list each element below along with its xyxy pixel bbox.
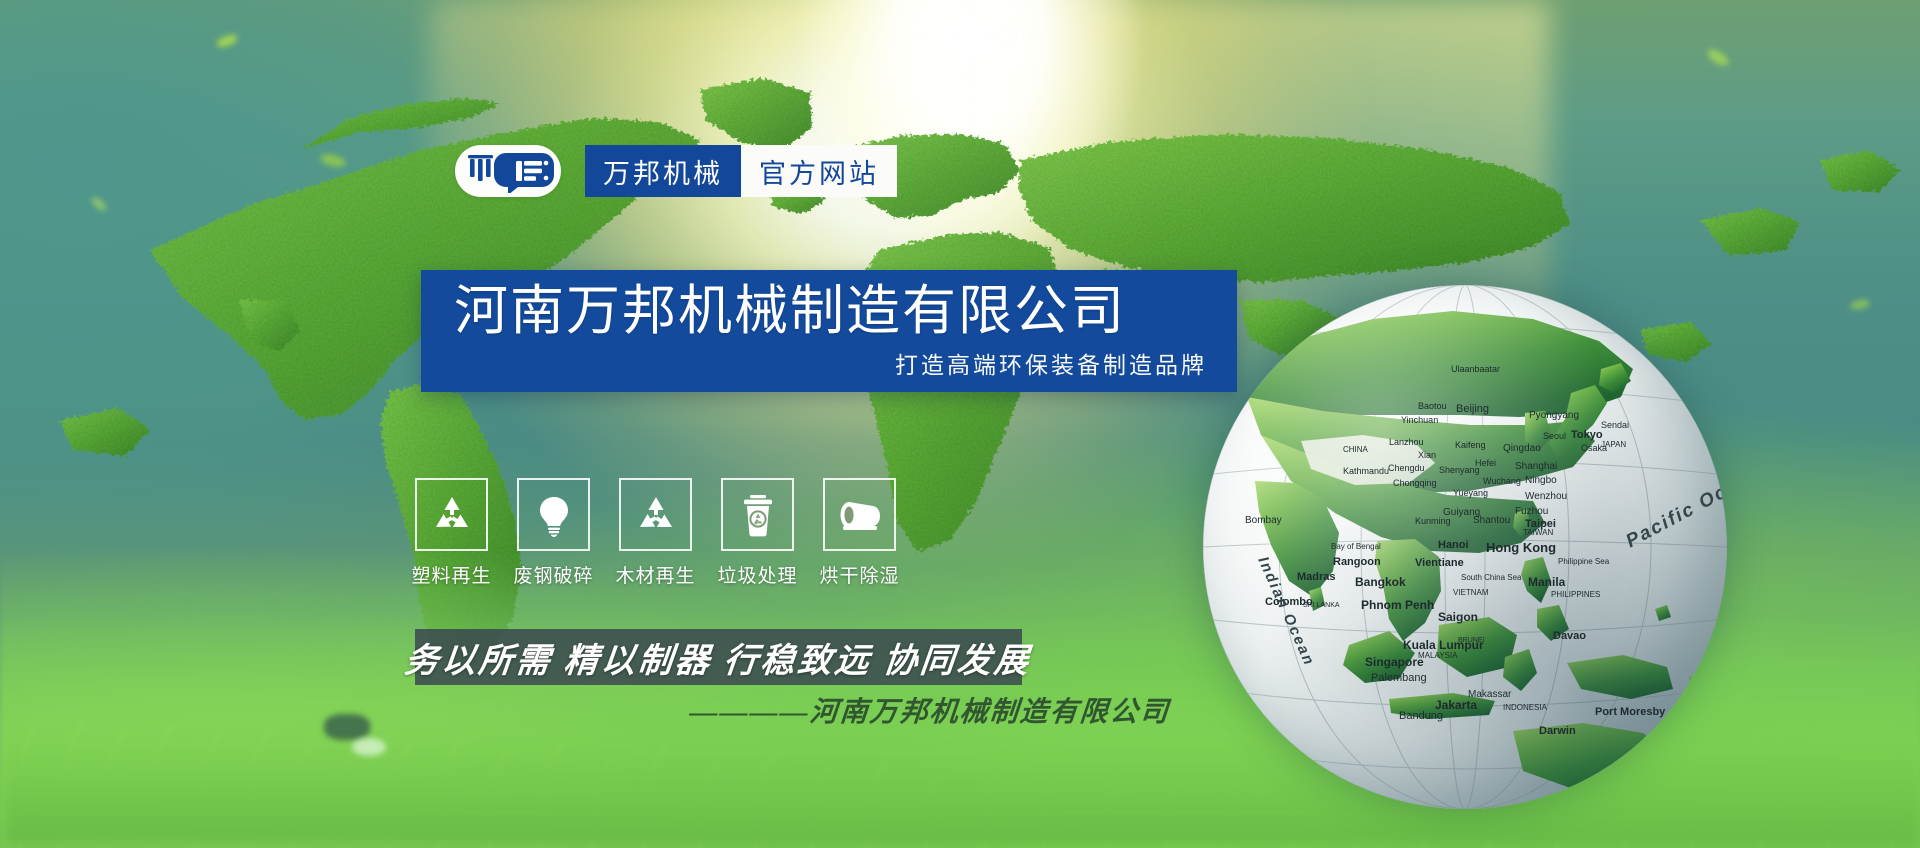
site-header: 万邦机械 官方网站 (455, 145, 897, 197)
slogan-panel: 务以所需 精以制器 行稳致远 协同发展 (415, 629, 1022, 685)
recycle-icon (634, 493, 678, 537)
grass-bokeh-light (352, 738, 386, 756)
feature-label: 烘干除湿 (820, 561, 900, 588)
page-title: 河南万邦机械制造有限公司 (454, 280, 1126, 342)
slogan-text: 务以所需 精以制器 行稳致远 协同发展 (403, 633, 1035, 682)
trash-bin-icon (736, 493, 780, 537)
feature-icon-box (517, 478, 590, 551)
feature-icon-box (823, 478, 896, 551)
feature-label: 垃圾处理 (718, 561, 798, 588)
tab-wanbang-machinery[interactable]: 万邦机械 (585, 145, 741, 197)
company-banner: 河南万邦机械制造有限公司 打造高端环保装备制造品牌 (421, 270, 1237, 392)
feature-item-plastic-recycling[interactable]: 塑料再生 (415, 478, 488, 588)
globe-sphere: UlaanbaatarBeijingBaotouYinchuanLanzhouP… (1203, 285, 1727, 809)
slogan-signature: ————河南万邦机械制造有限公司 (688, 690, 1172, 730)
hero-banner-stage: UlaanbaatarBeijingBaotouYinchuanLanzhouP… (0, 0, 1920, 848)
tab-official-website[interactable]: 官方网站 (741, 145, 897, 197)
feature-icon-box (619, 478, 692, 551)
banner-subtitle: 打造高端环保装备制造品牌 (895, 346, 1207, 380)
dryer-drum-icon (837, 495, 883, 535)
company-logo[interactable] (455, 145, 561, 197)
feature-icon-box (721, 478, 794, 551)
feature-item-drying-dehumidifying[interactable]: 烘干除湿 (823, 478, 896, 588)
feature-label: 废钢破碎 (514, 561, 594, 588)
feature-icon-row: 塑料再生 废钢破碎 (415, 478, 896, 588)
recycle-icon (430, 493, 474, 537)
feature-item-waste-treatment[interactable]: 垃圾处理 (721, 478, 794, 588)
grass-bokeh-dark (324, 714, 370, 740)
lightbulb-icon (532, 493, 576, 537)
feature-icon-box (415, 478, 488, 551)
logo-b-bubble (494, 153, 554, 193)
feature-item-wood-recycling[interactable]: 木材再生 (619, 478, 692, 588)
feature-item-scrap-steel-crushing[interactable]: 废钢破碎 (517, 478, 590, 588)
feature-label: 木材再生 (616, 561, 696, 588)
globe: UlaanbaatarBeijingBaotouYinchuanLanzhouP… (1203, 285, 1727, 809)
feature-label: 塑料再生 (412, 561, 492, 588)
logo-w-glyph (468, 155, 493, 181)
